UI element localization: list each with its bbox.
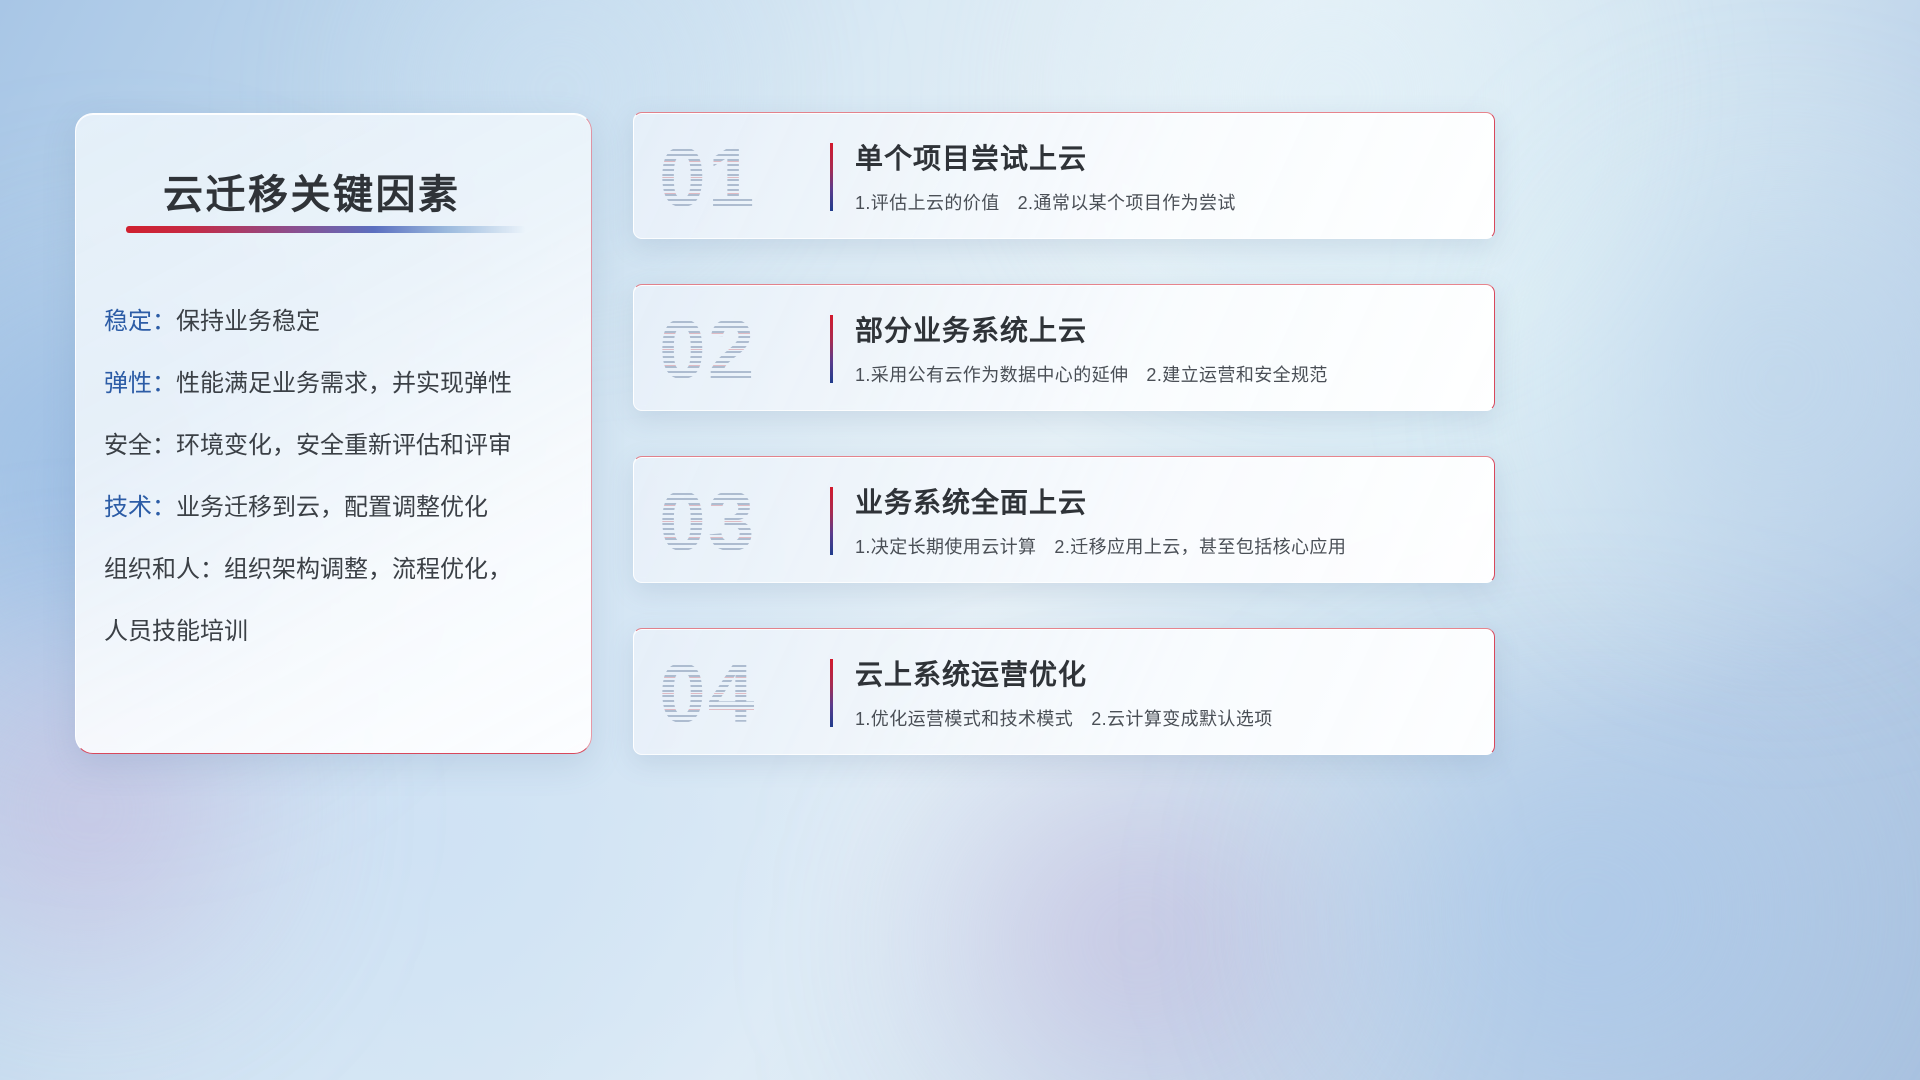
- card-subtitle: 1.采用公有云作为数据中心的延伸2.建立运营和安全规范: [855, 361, 1328, 387]
- stage-number: 04: [659, 645, 756, 741]
- factor-line: 组织和人：组织架构调整，流程优化，: [104, 558, 575, 582]
- card-divider-bar: [830, 487, 833, 555]
- migration-stage-card[interactable]: 0404云上系统运营优化1.优化运营模式和技术模式2.云计算变成默认选项: [633, 628, 1495, 755]
- factor-label: 安全：: [104, 432, 176, 459]
- card-point-2: 2.通常以某个项目作为尝试: [1018, 193, 1236, 213]
- stage-number: 02: [659, 301, 756, 397]
- factor-line: 弹性：性能满足业务需求，并实现弹性: [104, 372, 575, 396]
- migration-stage-card[interactable]: 0303业务系统全面上云1.决定长期使用云计算2.迁移应用上云，甚至包括核心应用: [633, 456, 1495, 583]
- factor-text: 组织架构调整，流程优化，: [224, 556, 512, 583]
- card-title: 业务系统全面上云: [855, 481, 1087, 521]
- factor-label: 弹性：: [104, 370, 176, 397]
- card-point-2: 2.云计算变成默认选项: [1091, 709, 1272, 729]
- stage-number: 01: [659, 129, 756, 225]
- factor-list: 稳定：保持业务稳定弹性：性能满足业务需求，并实现弹性安全：环境变化，安全重新评估…: [104, 310, 575, 644]
- card-title: 云上系统运营优化: [855, 653, 1087, 693]
- card-subtitle: 1.决定长期使用云计算2.迁移应用上云，甚至包括核心应用: [855, 533, 1346, 559]
- factor-label: 组织和人：: [104, 556, 224, 583]
- card-point-2: 2.建立运营和安全规范: [1146, 365, 1327, 385]
- factor-line: 人员技能培训: [104, 620, 575, 644]
- card-divider-bar: [830, 659, 833, 727]
- card-point-1: 1.决定长期使用云计算: [855, 537, 1036, 557]
- card-subtitle: 1.评估上云的价值2.通常以某个项目作为尝试: [855, 189, 1236, 215]
- factor-label: 技术：: [104, 494, 176, 521]
- migration-stage-card[interactable]: 0202部分业务系统上云1.采用公有云作为数据中心的延伸2.建立运营和安全规范: [633, 284, 1495, 411]
- page-title: 云迁移关键因素: [163, 162, 461, 220]
- card-divider-bar: [830, 315, 833, 383]
- factor-text: 人员技能培训: [104, 618, 248, 645]
- card-divider-bar: [830, 143, 833, 211]
- card-point-2: 2.迁移应用上云，甚至包括核心应用: [1054, 537, 1346, 557]
- card-subtitle: 1.优化运营模式和技术模式2.云计算变成默认选项: [855, 705, 1273, 731]
- factor-label: 稳定：: [104, 308, 176, 335]
- key-factors-panel: 云迁移关键因素 稳定：保持业务稳定弹性：性能满足业务需求，并实现弹性安全：环境变…: [75, 113, 592, 754]
- factor-text: 环境变化，安全重新评估和评审: [176, 432, 512, 459]
- card-point-1: 1.优化运营模式和技术模式: [855, 709, 1073, 729]
- factor-line: 技术：业务迁移到云，配置调整优化: [104, 496, 575, 520]
- stage-number: 03: [659, 473, 756, 569]
- factor-text: 业务迁移到云，配置调整优化: [176, 494, 488, 521]
- factor-text: 保持业务稳定: [176, 308, 320, 335]
- title-underline-accent: [126, 226, 526, 233]
- factor-text: 性能满足业务需求，并实现弹性: [176, 370, 512, 397]
- factor-line: 安全：环境变化，安全重新评估和评审: [104, 434, 575, 458]
- card-title: 单个项目尝试上云: [855, 137, 1087, 177]
- factor-line: 稳定：保持业务稳定: [104, 310, 575, 334]
- card-point-1: 1.评估上云的价值: [855, 193, 1000, 213]
- card-point-1: 1.采用公有云作为数据中心的延伸: [855, 365, 1128, 385]
- migration-stage-card-list: 0101单个项目尝试上云1.评估上云的价值2.通常以某个项目作为尝试0202部分…: [633, 112, 1495, 755]
- migration-stage-card[interactable]: 0101单个项目尝试上云1.评估上云的价值2.通常以某个项目作为尝试: [633, 112, 1495, 239]
- card-title: 部分业务系统上云: [855, 309, 1087, 349]
